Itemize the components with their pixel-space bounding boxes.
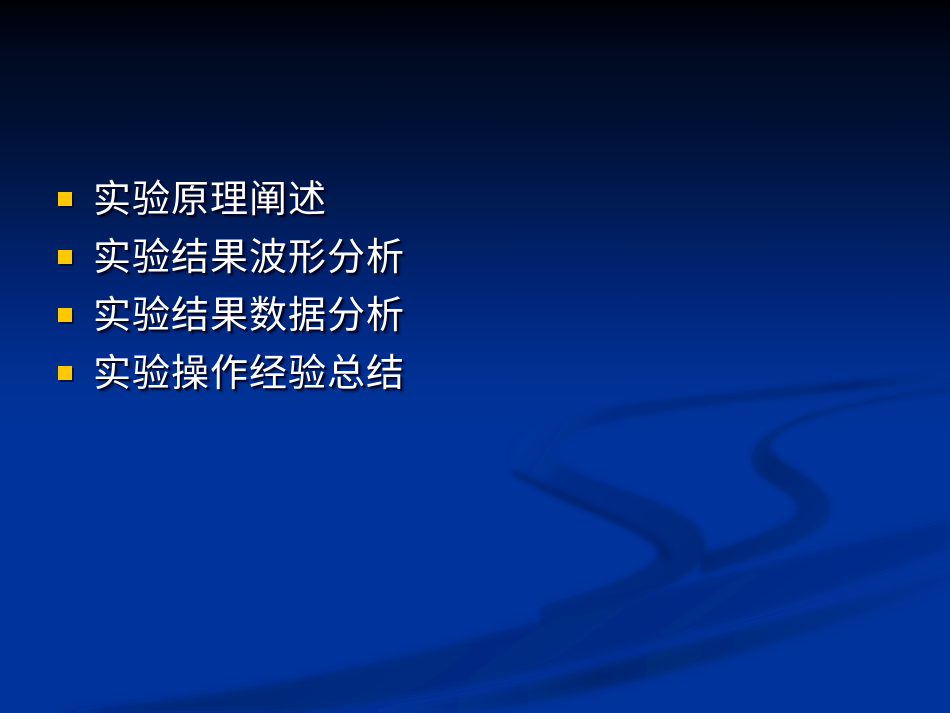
square-bullet-icon (58, 308, 72, 322)
bullet-list: 实验原理阐述 实验结果波形分析 实验结果数据分析 实验操作经验总结 (58, 176, 858, 408)
list-item: 实验操作经验总结 (58, 350, 858, 408)
bullet-label: 实验结果数据分析 (93, 292, 405, 338)
square-bullet-icon (58, 192, 72, 206)
bullet-label: 实验原理阐述 (93, 176, 327, 222)
list-item: 实验原理阐述 (58, 176, 858, 234)
list-item: 实验结果数据分析 (58, 292, 858, 350)
square-bullet-icon (58, 366, 72, 380)
bullet-label: 实验操作经验总结 (93, 350, 405, 396)
list-item: 实验结果波形分析 (58, 234, 858, 292)
presentation-slide: 实验原理阐述 实验结果波形分析 实验结果数据分析 实验操作经验总结 (0, 0, 950, 713)
bullet-label: 实验结果波形分析 (93, 234, 405, 280)
square-bullet-icon (58, 250, 72, 264)
